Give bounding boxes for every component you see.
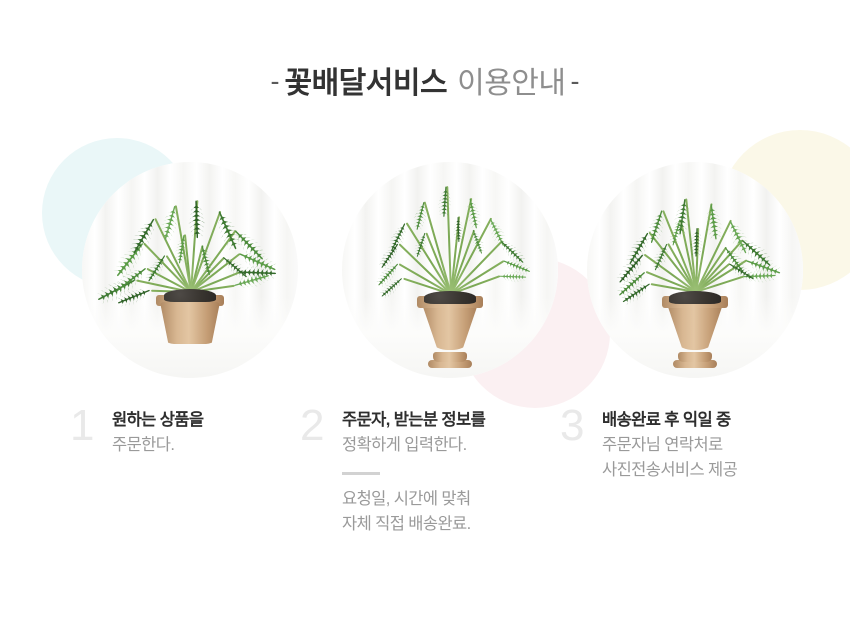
plant-leaf [688, 228, 704, 261]
step-text-2: 2 주문자, 받는분 정보를 정확하게 입력한다. 요청일, 시간에 맞춰 자체… [300, 408, 485, 537]
step-line: 주문자님 연락처로 [602, 433, 737, 458]
step-number-2: 2 [300, 404, 324, 448]
step-line: 사진전송서비스 제공 [602, 458, 737, 483]
pot-soil [669, 291, 721, 304]
plant-leaf [451, 216, 465, 244]
step-line: 배송완료 후 익일 중 [602, 408, 737, 433]
pot-body [422, 304, 478, 350]
step-text-1: 1 원하는 상품을 주문한다. [70, 408, 203, 458]
pot-body [160, 302, 220, 344]
flower-delivery-guide-page: -꽃배달서비스이용안내- 1 원하는 상품을 주문한다. [0, 0, 850, 617]
step-column-3: 3 배송완료 후 익일 중 주문자님 연락처로 사진전송서비스 제공 [560, 0, 840, 617]
pot-foot [678, 352, 712, 362]
step-text-3: 3 배송완료 후 익일 중 주문자님 연락처로 사진전송서비스 제공 [560, 408, 737, 483]
step-line: 정확하게 입력한다. [342, 433, 485, 458]
step-line: 주문한다. [112, 433, 203, 458]
plant-leaf [436, 186, 455, 221]
step-body-2: 주문자, 받는분 정보를 정확하게 입력한다. 요청일, 시간에 맞춰 자체 직… [342, 408, 485, 537]
step-number-3: 3 [560, 404, 584, 448]
plant-illustration-2 [342, 162, 558, 378]
step-line: 주문자, 받는분 정보를 [342, 408, 485, 433]
plant-leaf [499, 269, 529, 284]
pot-soil [164, 289, 216, 302]
plant-leaf [408, 200, 431, 235]
steps-container: 1 원하는 상품을 주문한다. [0, 0, 850, 617]
step-body-3: 배송완료 후 익일 중 주문자님 연락처로 사진전송서비스 제공 [602, 408, 737, 483]
step-divider [342, 472, 380, 475]
pot-foot [433, 352, 467, 362]
step-column-2: 2 주문자, 받는분 정보를 정확하게 입력한다. 요청일, 시간에 맞춰 자체… [300, 0, 570, 617]
plant-illustration-3 [587, 162, 803, 378]
step-line: 원하는 상품을 [112, 408, 203, 433]
step-photo-2 [342, 162, 558, 378]
step-column-1: 1 원하는 상품을 주문한다. [40, 0, 310, 617]
step-sub-line: 요청일, 시간에 맞춰 [342, 487, 485, 512]
step-sub-line: 자체 직접 배송완료. [342, 512, 485, 537]
step-photo-1 [82, 162, 298, 378]
plant-illustration-1 [82, 162, 298, 378]
pot-soil [424, 291, 476, 304]
pot-body [667, 304, 723, 350]
step-photo-3 [587, 162, 803, 378]
step-number-1: 1 [70, 404, 94, 448]
step-body-1: 원하는 상품을 주문한다. [112, 408, 203, 458]
